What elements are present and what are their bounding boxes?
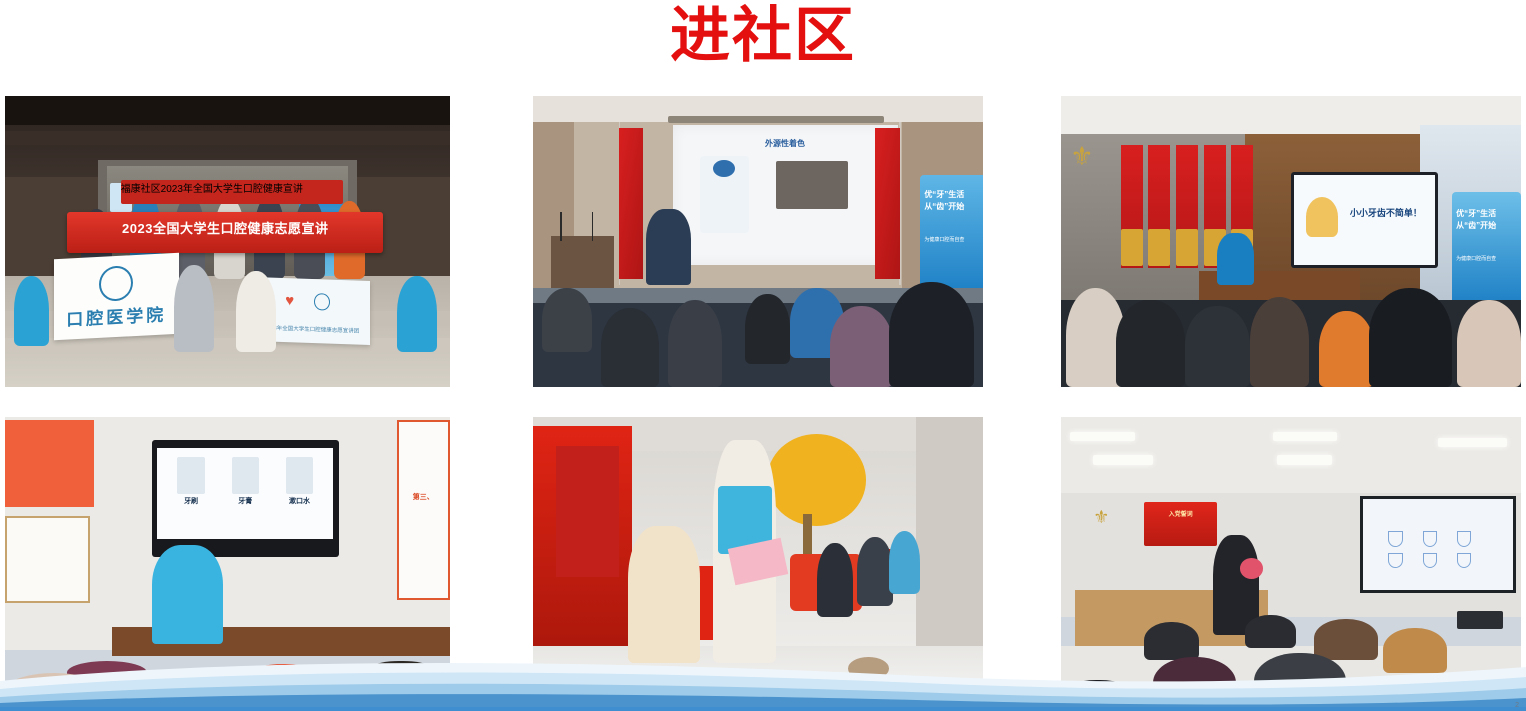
- photo-1-scene: 福康社区2023年全国大学生口腔健康宣讲 2023全国大学生口腔健康志愿宣讲 口…: [5, 96, 450, 387]
- photo-6-audience: [1061, 599, 1521, 711]
- photo-4-tv-screen: 牙刷 牙膏 漱口水: [152, 440, 339, 556]
- photo-3-speaker: [1217, 233, 1254, 285]
- page-number: 2: [1515, 702, 1519, 709]
- photo-3-standee-text: 优“牙”生活 从“齿”开始: [1456, 208, 1517, 232]
- photo-1-main-banner: 2023全国大学生口腔健康志愿宣讲: [67, 212, 383, 253]
- photo-3-scene: ⚜ 小小牙齿不简单！ 优“牙”生活 从“齿”开始 为健康口腔: [1061, 96, 1521, 387]
- toothbrush-icon: [177, 457, 204, 495]
- photo-1-main-banner-text: 2023全国大学生口腔健康志愿宣讲: [67, 218, 383, 237]
- photo-community-room: 第三、 牙刷 牙膏 漱口水: [5, 417, 450, 708]
- photo-2-flag-left: [619, 128, 644, 279]
- photo-5-scene: [533, 417, 983, 703]
- cartoon-doctor-icon: [1306, 197, 1338, 237]
- photo-1-left-flag: 口腔医学院: [54, 253, 179, 341]
- photo-mall-outreach: 商场红色布置场地，志愿者向居民发放口腔健康宣传单页: [533, 417, 983, 703]
- photo-6-oath-banner-text: 入党誓词: [1144, 509, 1218, 518]
- photo-4-wall-poster-text: 第三、: [399, 492, 448, 502]
- photo-2-flag-right: [875, 128, 900, 279]
- photo-2-slide-card: [700, 156, 750, 233]
- photo-4-scene: 第三、 牙刷 牙膏 漱口水: [5, 417, 450, 708]
- photo-4-tv-item-3-label: 漱口水: [275, 496, 324, 506]
- photo-3-tv-title: 小小牙齿不简单！: [1350, 206, 1422, 219]
- photo-4-tv-item-1-label: 牙刷: [167, 496, 216, 506]
- presentation-slide: 进社区 福康社区2023年全国大学生口腔健康宣讲: [0, 0, 1526, 711]
- tooth-mascot-icon: [713, 160, 735, 177]
- school-seal-icon: [99, 265, 133, 302]
- logo-circle-icon: [314, 293, 330, 311]
- photo-1-top-banner: 福康社区2023年全国大学生口腔健康宣讲: [121, 180, 344, 203]
- photo-4-tv-item-2: 牙膏: [221, 457, 270, 529]
- photo-2-slide-title: 外源性着色: [673, 138, 898, 149]
- photo-4-tv-item-2-label: 牙膏: [221, 496, 270, 506]
- photo-6-projection-screen: [1360, 496, 1516, 593]
- party-emblem-icon: ⚜: [1093, 508, 1121, 540]
- photo-3-tv-screen: 小小牙齿不简单！: [1291, 172, 1438, 268]
- photo-party-hall: ⚜ 小小牙齿不简单！ 优“牙”生活 从“齿”开始 为健康口腔: [1061, 96, 1521, 387]
- photo-group-banner: 福康社区2023年全国大学生口腔健康宣讲 2023全国大学生口腔健康志愿宣讲 口…: [5, 96, 450, 387]
- photo-2-speaker: [646, 209, 691, 285]
- toothpaste-icon: [232, 457, 259, 495]
- photo-3-standee-list-title: 为健康口腔而自查: [1456, 255, 1517, 262]
- photo-lecture-hall: 外源性着色 优“牙”生活 从“齿”开始 为健康口腔而自查: [533, 96, 983, 387]
- photo-4-audience: [5, 592, 450, 708]
- photo-2-standee-text: 优“牙”生活 从“齿”开始: [924, 189, 983, 213]
- photo-2-scene: 外源性着色 优“牙”生活 从“齿”开始 为健康口腔而自查: [533, 96, 983, 387]
- photo-5-seated-resident: [628, 526, 700, 663]
- dental-model-prop: [1240, 558, 1263, 579]
- photo-1-left-flag-text: 口腔医学院: [54, 299, 179, 331]
- mouthwash-icon: [286, 457, 313, 495]
- photo-4-wall-poster: 第三、: [397, 420, 450, 600]
- photo-2-slide-photo: [776, 161, 848, 208]
- photo-2-projection-screen: 外源性着色: [673, 125, 898, 265]
- photo-2-standee-list-title: 为健康口腔而自查: [924, 236, 983, 244]
- decorative-tree: [767, 434, 866, 526]
- page-title: 进社区: [0, 2, 1526, 70]
- photo-4-tv-item-1: 牙刷: [167, 457, 216, 529]
- photo-6-oath-banner: 入党誓词: [1144, 502, 1218, 546]
- heart-icon: ♥: [285, 292, 300, 308]
- photo-3-standee: 优“牙”生活 从“齿”开始 为健康口腔而自查: [1452, 192, 1521, 308]
- photo-1-top-banner-text: 福康社区2023年全国大学生口腔健康宣讲: [121, 180, 344, 195]
- party-emblem-icon: ⚜: [1070, 143, 1111, 190]
- photo-classroom-demo: ⚜ 入党誓词: [1061, 417, 1521, 711]
- photo-4-tv-item-3: 漱口水: [275, 457, 324, 529]
- photo-2-standee: 优“牙”生活 从“齿”开始 为健康口腔而自查: [920, 175, 983, 297]
- photo-6-scene: ⚜ 入党誓词: [1061, 417, 1521, 711]
